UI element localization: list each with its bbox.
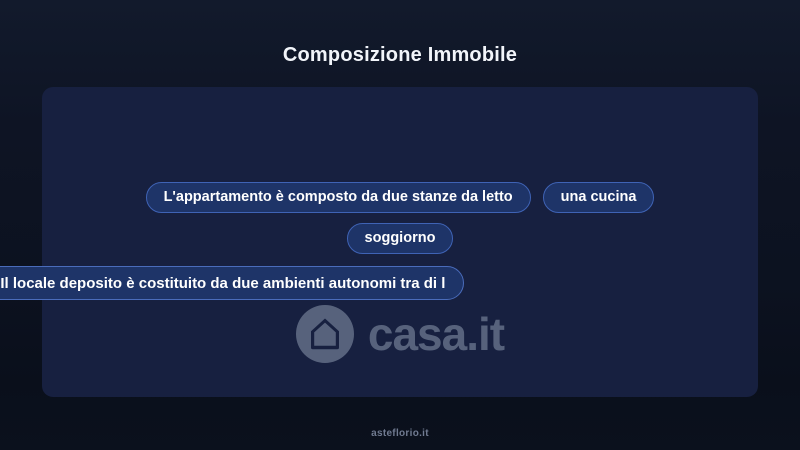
chip-cucina[interactable]: una cucina	[543, 182, 655, 213]
page-title: Composizione Immobile	[0, 44, 800, 67]
footer-source-label: asteflorio.it	[0, 428, 800, 439]
chip-row: soggiorno	[42, 223, 758, 254]
chip-sottotetto-deposito[interactable]: c. Il sottotetto è allo stato rustico. I…	[0, 266, 464, 300]
chip-group: L'appartamento è composto da due stanze …	[42, 182, 758, 264]
chip-appartamento[interactable]: L'appartamento è composto da due stanze …	[146, 182, 531, 213]
chip-soggiorno[interactable]: soggiorno	[347, 223, 454, 254]
chip-row: L'appartamento è composto da due stanze …	[42, 182, 758, 213]
house-in-circle-icon	[296, 305, 354, 363]
viewport: Composizione Immobile L'appartamento è c…	[0, 0, 800, 450]
composition-card: L'appartamento è composto da due stanze …	[42, 87, 758, 397]
casa-it-watermark: casa.it	[42, 305, 758, 363]
watermark-label: casa.it	[368, 311, 504, 357]
chip-overflow-container: c. Il sottotetto è allo stato rustico. I…	[0, 266, 800, 300]
